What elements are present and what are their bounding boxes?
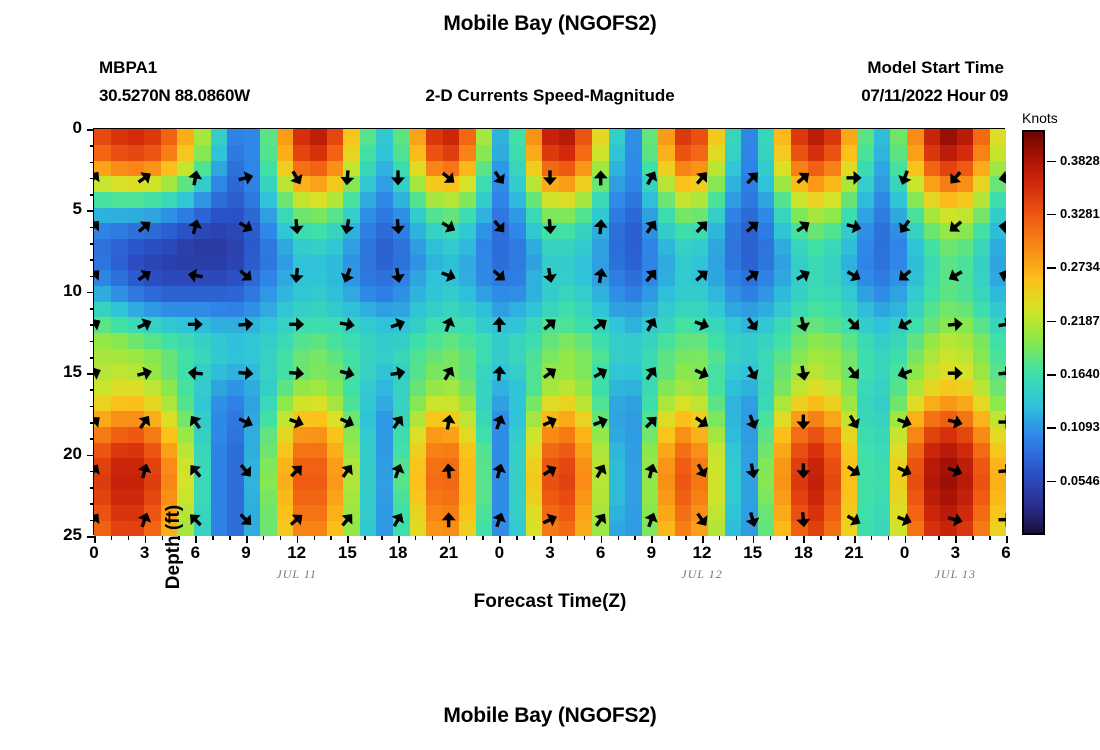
- colorbar-tick-label: 0.0546: [1060, 473, 1100, 488]
- x-axis-minor-tick: [922, 536, 924, 540]
- y-axis-minor-tick: [90, 162, 94, 164]
- x-axis-minor-tick: [415, 536, 417, 540]
- x-axis-title: Forecast Time(Z): [94, 591, 1006, 613]
- y-axis-tick: [87, 210, 94, 212]
- y-axis-tick: [87, 129, 94, 131]
- x-axis-minor-tick: [786, 536, 788, 540]
- x-axis-minor-tick: [719, 536, 721, 540]
- colorbar-units-label: Knots: [1022, 110, 1058, 126]
- x-axis-minor-tick: [668, 536, 670, 540]
- x-axis-minor-tick: [989, 536, 991, 540]
- x-axis-tick-label: 6: [976, 543, 1036, 563]
- x-axis-minor-tick: [482, 536, 484, 540]
- page-title: Mobile Bay (NGOFS2): [0, 12, 1100, 36]
- x-axis-date-label: JUL 12: [642, 567, 762, 582]
- bottom-page-title: Mobile Bay (NGOFS2): [0, 704, 1100, 728]
- y-axis-minor-tick: [90, 471, 94, 473]
- x-axis-minor-tick: [516, 536, 518, 540]
- y-axis-minor-tick: [90, 503, 94, 505]
- x-axis-minor-tick: [618, 536, 620, 540]
- x-axis-minor-tick: [263, 536, 265, 540]
- y-axis-tick-label: 10: [22, 281, 82, 301]
- x-axis-tick: [1006, 536, 1008, 543]
- colorbar-tick: [1047, 427, 1056, 429]
- y-axis-minor-tick: [90, 357, 94, 359]
- x-axis-minor-tick: [871, 536, 873, 540]
- y-axis-minor-tick: [90, 422, 94, 424]
- y-axis-minor-tick: [90, 194, 94, 196]
- x-axis-minor-tick: [938, 536, 940, 540]
- colorbar-tick-label: 0.3828: [1060, 153, 1100, 168]
- x-axis-minor-tick: [432, 536, 434, 540]
- x-axis-minor-tick: [314, 536, 316, 540]
- x-axis-minor-tick: [972, 536, 974, 540]
- y-axis-minor-tick: [90, 487, 94, 489]
- y-axis-minor-tick: [90, 406, 94, 408]
- colorbar-tick-label: 0.1640: [1060, 366, 1100, 381]
- x-axis-minor-tick: [330, 536, 332, 540]
- x-axis-minor-tick: [634, 536, 636, 540]
- y-axis-tick: [87, 536, 94, 538]
- x-axis-tick: [94, 536, 96, 543]
- x-axis-tick: [854, 536, 856, 543]
- x-axis-date-label: JUL 11: [237, 567, 357, 582]
- x-axis-tick: [550, 536, 552, 543]
- current-speed-heatmap: [94, 129, 1006, 536]
- x-axis-date-label: JUL 13: [895, 567, 1015, 582]
- x-axis-tick: [499, 536, 501, 543]
- x-axis-minor-tick: [162, 536, 164, 540]
- colorbar-tick: [1047, 481, 1056, 483]
- x-axis-tick: [347, 536, 349, 543]
- y-axis-minor-tick: [90, 308, 94, 310]
- colorbar-tick: [1047, 374, 1056, 376]
- colorbar-tick: [1047, 321, 1056, 323]
- y-axis-tick: [87, 292, 94, 294]
- x-axis-minor-tick: [212, 536, 214, 540]
- x-axis-minor-tick: [381, 536, 383, 540]
- x-axis-minor-tick: [533, 536, 535, 540]
- y-axis-minor-tick: [90, 520, 94, 522]
- colorbar-tick-label: 0.2187: [1060, 313, 1100, 328]
- x-axis-minor-tick: [736, 536, 738, 540]
- x-axis-minor-tick: [128, 536, 130, 540]
- colorbar: 0.38280.32810.27340.21870.16400.10930.05…: [1022, 130, 1045, 535]
- x-axis-tick: [753, 536, 755, 543]
- y-axis-minor-tick: [90, 389, 94, 391]
- x-axis-minor-tick: [770, 536, 772, 540]
- y-axis-minor-tick: [90, 243, 94, 245]
- y-axis-minor-tick: [90, 178, 94, 180]
- y-axis-minor-tick: [90, 259, 94, 261]
- x-axis-minor-tick: [229, 536, 231, 540]
- y-axis-tick: [87, 455, 94, 457]
- colorbar-tick-label: 0.2734: [1060, 259, 1100, 274]
- x-axis-tick: [449, 536, 451, 543]
- x-axis-tick: [955, 536, 957, 543]
- y-axis-minor-tick: [90, 276, 94, 278]
- y-axis-tick: [87, 373, 94, 375]
- x-axis-minor-tick: [888, 536, 890, 540]
- x-axis-minor-tick: [280, 536, 282, 540]
- x-axis-minor-tick: [466, 536, 468, 540]
- x-axis-tick: [803, 536, 805, 543]
- x-axis-tick: [195, 536, 197, 543]
- model-start-time-label: Model Start Time: [867, 58, 1004, 78]
- x-axis-tick: [398, 536, 400, 543]
- y-axis-minor-tick: [90, 324, 94, 326]
- model-start-time-value: 07/11/2022 Hour 09: [861, 86, 1008, 106]
- y-axis-tick-label: 5: [22, 199, 82, 219]
- colorbar-tick-label: 0.1093: [1060, 419, 1100, 434]
- x-axis-tick: [246, 536, 248, 543]
- x-axis-tick: [601, 536, 603, 543]
- colorbar-gradient: [1024, 132, 1043, 533]
- x-axis-tick: [702, 536, 704, 543]
- x-axis-minor-tick: [685, 536, 687, 540]
- x-axis-minor-tick: [820, 536, 822, 540]
- y-axis-minor-tick: [90, 438, 94, 440]
- y-axis-minor-tick: [90, 341, 94, 343]
- x-axis-minor-tick: [837, 536, 839, 540]
- y-axis-tick-label: 0: [22, 118, 82, 138]
- colorbar-tick: [1047, 267, 1056, 269]
- x-axis-minor-tick: [364, 536, 366, 540]
- x-axis-tick: [651, 536, 653, 543]
- colorbar-tick: [1047, 161, 1056, 163]
- y-axis-minor-tick: [90, 227, 94, 229]
- x-axis-minor-tick: [584, 536, 586, 540]
- x-axis-minor-tick: [178, 536, 180, 540]
- colorbar-tick-label: 0.3281: [1060, 206, 1100, 221]
- y-axis-tick-label: 25: [22, 525, 82, 545]
- colorbar-tick: [1047, 214, 1056, 216]
- x-axis-minor-tick: [111, 536, 113, 540]
- y-axis-minor-tick: [90, 145, 94, 147]
- heatmap-plot-area: Depth (ft) Forecast Time(Z) 036912151821…: [93, 128, 1005, 535]
- x-axis-tick: [905, 536, 907, 543]
- x-axis-minor-tick: [567, 536, 569, 540]
- x-axis-tick: [145, 536, 147, 543]
- y-axis-tick-label: 20: [22, 444, 82, 464]
- x-axis-tick: [297, 536, 299, 543]
- station-id-label: MBPA1: [99, 58, 157, 78]
- y-axis-tick-label: 15: [22, 362, 82, 382]
